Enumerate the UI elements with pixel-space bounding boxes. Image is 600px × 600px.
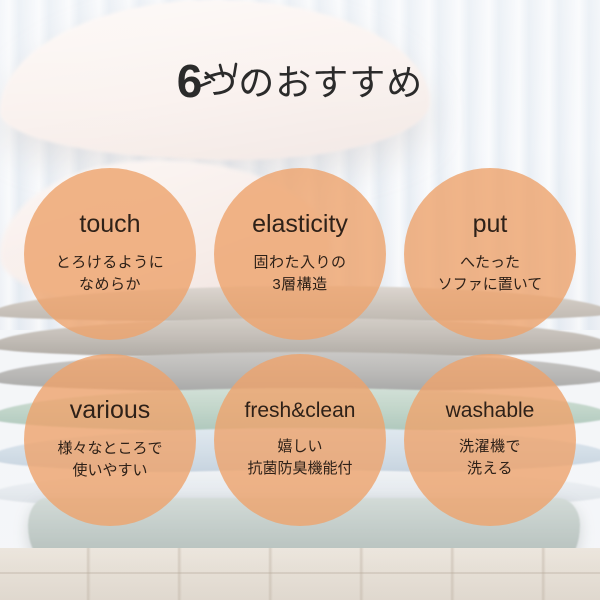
feature-title-put: put bbox=[473, 212, 508, 237]
feature-title-washable: washable bbox=[446, 400, 535, 421]
feature-desc-fresh-clean: 嬉しい 抗菌防臭機能付 bbox=[247, 436, 352, 480]
feature-title-elasticity: elasticity bbox=[252, 212, 348, 237]
feature-circle-grid: touch とろけるように なめらか elasticity 固わた入りの 3層構… bbox=[0, 168, 600, 526]
promo-poster: 6つのおすすめ touch とろけるように なめらか elasticity 固わ… bbox=[0, 0, 600, 600]
feature-row-top: touch とろけるように なめらか elasticity 固わた入りの 3層構… bbox=[0, 168, 600, 340]
feature-circle-elasticity[interactable]: elasticity 固わた入りの 3層構造 bbox=[214, 168, 386, 340]
feature-desc-various: 様々なところで 使いやすい bbox=[57, 438, 162, 482]
feature-circle-various[interactable]: various 様々なところで 使いやすい bbox=[24, 354, 196, 526]
feature-title-fresh-clean: fresh&clean bbox=[245, 400, 356, 421]
feature-desc-washable: 洗濯機で 洗える bbox=[459, 436, 521, 480]
feature-title-touch: touch bbox=[79, 212, 140, 237]
background-wood-floor bbox=[0, 548, 600, 600]
sparkle-lines-icon bbox=[194, 60, 264, 100]
feature-desc-put: へたった ソファに置いて bbox=[438, 252, 543, 296]
feature-circle-fresh-clean[interactable]: fresh&clean 嬉しい 抗菌防臭機能付 bbox=[214, 354, 386, 526]
feature-row-bottom: various 様々なところで 使いやすい fresh&clean 嬉しい 抗菌… bbox=[0, 354, 600, 526]
floor-seam-line bbox=[0, 572, 600, 574]
feature-circle-touch[interactable]: touch とろけるように なめらか bbox=[24, 168, 196, 340]
feature-title-various: various bbox=[70, 398, 151, 423]
feature-circle-washable[interactable]: washable 洗濯機で 洗える bbox=[404, 354, 576, 526]
poster-heading: 6つのおすすめ bbox=[0, 58, 600, 104]
feature-circle-put[interactable]: put へたった ソファに置いて bbox=[404, 168, 576, 340]
feature-desc-elasticity: 固わた入りの 3層構造 bbox=[253, 252, 346, 296]
feature-desc-touch: とろけるように なめらか bbox=[56, 252, 165, 296]
